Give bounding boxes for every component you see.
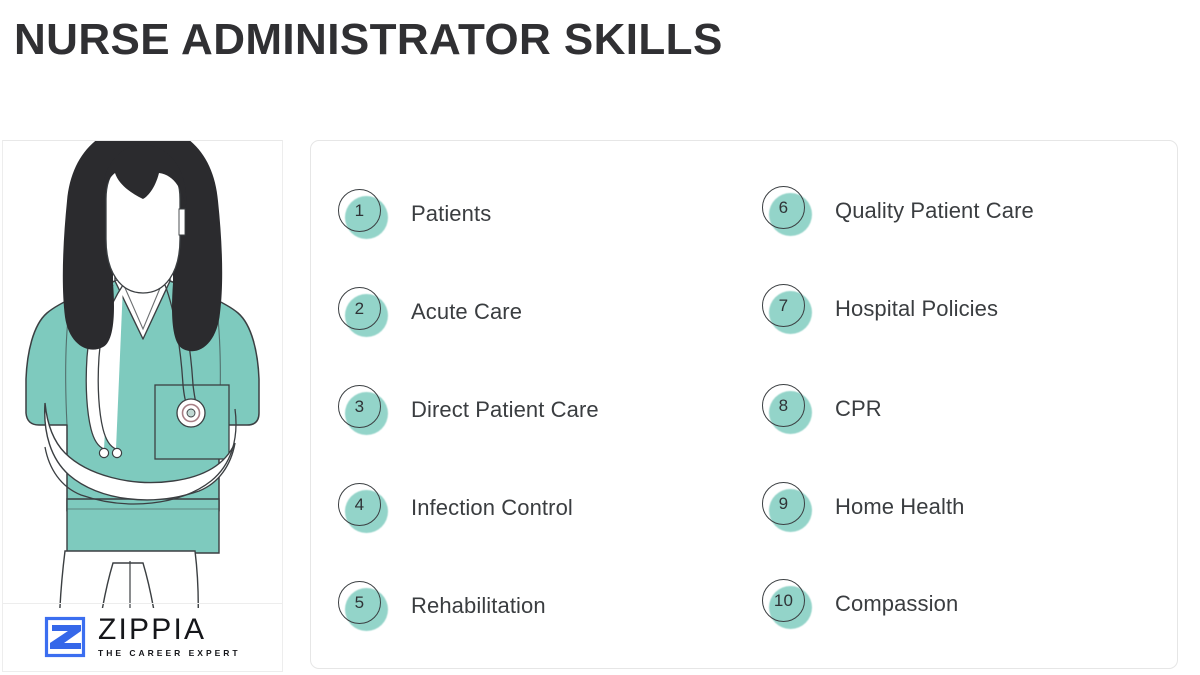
- badge-number: 6: [762, 186, 805, 229]
- skill-number-badge-4: 4: [338, 483, 388, 533]
- skill-number-badge-10: 10: [762, 579, 812, 629]
- skill-item-2[interactable]: 2 Acute Care: [338, 285, 522, 339]
- skill-number-badge-2: 2: [338, 287, 388, 337]
- skill-label: CPR: [835, 396, 882, 422]
- skill-item-4[interactable]: 4 Infection Control: [338, 481, 573, 535]
- illustration-panel: [2, 140, 283, 672]
- skill-label: Rehabilitation: [411, 593, 546, 619]
- skill-item-6[interactable]: 6 Quality Patient Care: [762, 184, 1034, 238]
- skill-label: Infection Control: [411, 495, 573, 521]
- skill-number-badge-5: 5: [338, 581, 388, 631]
- illustration-logo-divider: [2, 603, 283, 604]
- skill-label: Direct Patient Care: [411, 397, 599, 423]
- skill-number-badge-3: 3: [338, 385, 388, 435]
- skill-label: Compassion: [835, 591, 958, 617]
- skill-label: Home Health: [835, 494, 965, 520]
- zippia-tagline: THE CAREER EXPERT: [98, 647, 241, 660]
- badge-number: 7: [762, 284, 805, 327]
- skills-panel: 1 Patients 2 Acute Care 3 Direct Patient…: [310, 140, 1178, 669]
- skill-number-badge-8: 8: [762, 384, 812, 434]
- skill-item-10[interactable]: 10 Compassion: [762, 577, 958, 631]
- badge-number: 9: [762, 482, 805, 525]
- zippia-logo[interactable]: ZIPPIA THE CAREER EXPERT: [41, 611, 241, 663]
- skill-label: Patients: [411, 201, 491, 227]
- badge-number: 5: [338, 581, 381, 624]
- skill-item-5[interactable]: 5 Rehabilitation: [338, 579, 546, 633]
- skill-item-9[interactable]: 9 Home Health: [762, 480, 965, 534]
- badge-number: 8: [762, 384, 805, 427]
- skill-label: Hospital Policies: [835, 296, 998, 322]
- skill-number-badge-1: 1: [338, 189, 388, 239]
- skill-number-badge-7: 7: [762, 284, 812, 334]
- skill-item-7[interactable]: 7 Hospital Policies: [762, 282, 998, 336]
- skill-label: Acute Care: [411, 299, 522, 325]
- zippia-logo-mark: [41, 613, 89, 661]
- badge-number: 3: [338, 385, 381, 428]
- skill-label: Quality Patient Care: [835, 198, 1034, 224]
- skill-number-badge-6: 6: [762, 186, 812, 236]
- zippia-wordmark: ZIPPIA: [98, 615, 241, 645]
- badge-number: 1: [338, 189, 381, 232]
- skill-item-3[interactable]: 3 Direct Patient Care: [338, 383, 599, 437]
- skill-number-badge-9: 9: [762, 482, 812, 532]
- badge-number: 10: [762, 579, 805, 622]
- nurse-illustration: [3, 140, 282, 608]
- badge-number: 2: [338, 287, 381, 330]
- badge-number: 4: [338, 483, 381, 526]
- page-title: NURSE ADMINISTRATOR SKILLS: [14, 14, 723, 66]
- skill-item-8[interactable]: 8 CPR: [762, 382, 882, 436]
- skill-item-1[interactable]: 1 Patients: [338, 187, 491, 241]
